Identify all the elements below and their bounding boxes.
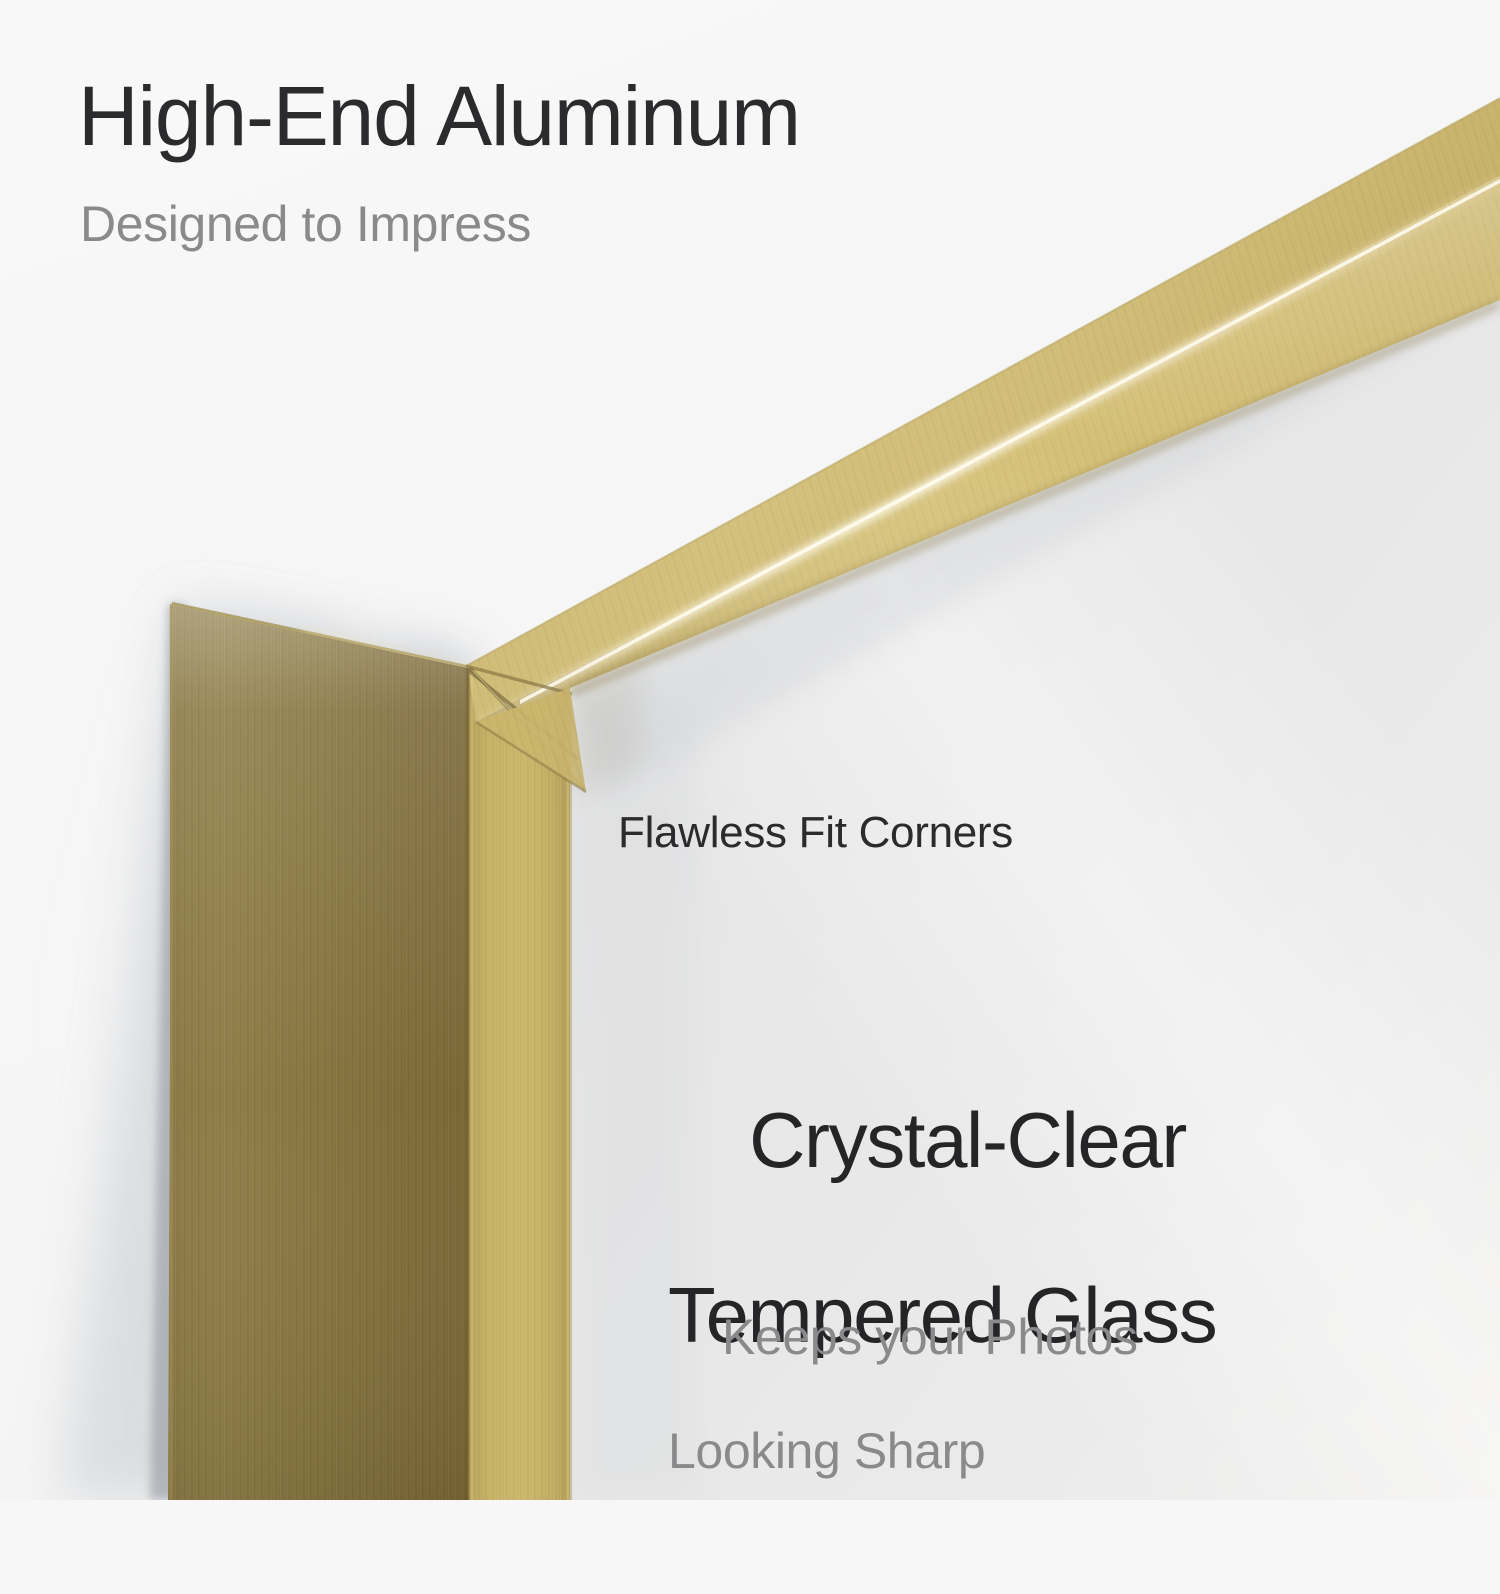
callout-flawless-fit-corners: Flawless Fit Corners [618, 810, 1013, 856]
glass-feature-subtitle: Keeps your Photos Looking Sharp [668, 1252, 1138, 1594]
glass-feature-subtitle-line2: Looking Sharp [668, 1423, 1138, 1480]
glass-feature-subtitle-line1: Keeps your Photos [722, 1309, 1138, 1365]
product-image-canvas: High-End Aluminum Designed to Impress Fl… [0, 0, 1500, 1500]
page-subtitle: Designed to Impress [80, 198, 531, 251]
glass-feature-title-line1: Crystal-Clear [749, 1096, 1186, 1184]
page-title: High-End Aluminum [78, 74, 800, 160]
